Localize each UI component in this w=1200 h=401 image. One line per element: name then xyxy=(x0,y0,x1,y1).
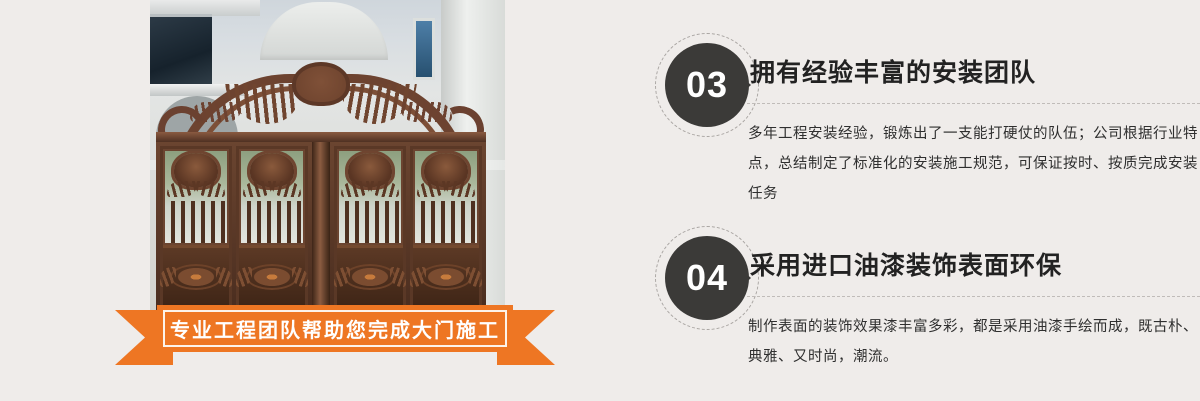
gate-crown-ornament xyxy=(156,58,486,136)
gate-panel xyxy=(160,146,232,308)
badge-pointer-icon xyxy=(733,262,751,294)
gate-crest-wing-right xyxy=(369,181,399,197)
gate-crest-wing-right xyxy=(271,181,301,197)
feature-description-03: 多年工程安装经验，锻炼出了一支能打硬仗的队伍；公司根据行业特点，总结制定了标准化… xyxy=(748,119,1200,209)
gate-panel-solid xyxy=(239,245,305,305)
promo-banner-page: 专业工程团队帮助您完成大门施工 03 拥有经验丰富的安装团队 多年工程安装经验，… xyxy=(0,0,1200,401)
gate-crown-medallion xyxy=(292,62,350,106)
gate-crest-wing-left xyxy=(167,181,197,197)
gate-balusters xyxy=(241,201,303,243)
gate-center-post xyxy=(312,142,330,312)
gate-balusters xyxy=(339,201,401,243)
gate-rosette-ornament xyxy=(246,264,298,290)
gate-panel-grille xyxy=(163,149,229,245)
gate-crest-wing-right xyxy=(445,181,475,197)
gate-panel xyxy=(236,146,308,308)
gate-crest-wing-right xyxy=(195,181,225,197)
gate-balusters xyxy=(165,201,227,243)
gate-leaf-right xyxy=(330,142,486,312)
gate-crest-wing-left xyxy=(243,181,273,197)
gate-crest-wing-left xyxy=(341,181,371,197)
gate-photo xyxy=(150,0,505,312)
gate-panel-solid xyxy=(413,245,479,305)
gate-crest-wing-left xyxy=(417,181,447,197)
gate-panel-solid xyxy=(337,245,403,305)
feature-title-03: 拥有经验丰富的安装团队 xyxy=(750,53,1036,89)
gate-rosette-ornament xyxy=(420,264,472,290)
bronze-gate xyxy=(156,58,486,312)
gate-panels xyxy=(156,142,486,312)
building-arch-center xyxy=(260,2,388,60)
gate-leaf-left xyxy=(156,142,312,312)
gate-beam xyxy=(156,132,486,142)
feature-description-04: 制作表面的装饰效果漆丰富多彩，都是采用油漆手绘而成，既古朴、典雅、又时尚，潮流。 xyxy=(748,312,1200,372)
gate-rosette-ornament xyxy=(170,264,222,290)
feature-divider-03 xyxy=(747,103,1200,104)
gate-panel xyxy=(410,146,482,308)
feature-badge-03: 03 xyxy=(655,33,759,137)
gate-panel-grille xyxy=(413,149,479,245)
gate-panel xyxy=(334,146,406,308)
feature-badge-04: 04 xyxy=(655,226,759,330)
badge-pointer-icon xyxy=(733,69,751,101)
gate-panel-grille xyxy=(239,149,305,245)
ribbon-body: 专业工程团队帮助您完成大门施工 xyxy=(157,305,513,352)
ribbon-caption: 专业工程团队帮助您完成大门施工 xyxy=(170,314,500,343)
gate-panel-grille xyxy=(337,149,403,245)
ribbon-banner: 专业工程团队帮助您完成大门施工 xyxy=(115,310,555,365)
gate-balusters xyxy=(415,201,477,243)
feature-list: 03 拥有经验丰富的安装团队 多年工程安装经验，锻炼出了一支能打硬仗的队伍；公司… xyxy=(655,0,1200,401)
gate-panel-solid xyxy=(163,245,229,305)
gate-rosette-ornament xyxy=(344,264,396,290)
feature-title-04: 采用进口油漆装饰表面环保 xyxy=(750,246,1062,282)
gate-photo-image xyxy=(150,0,505,312)
feature-divider-04 xyxy=(747,296,1200,297)
